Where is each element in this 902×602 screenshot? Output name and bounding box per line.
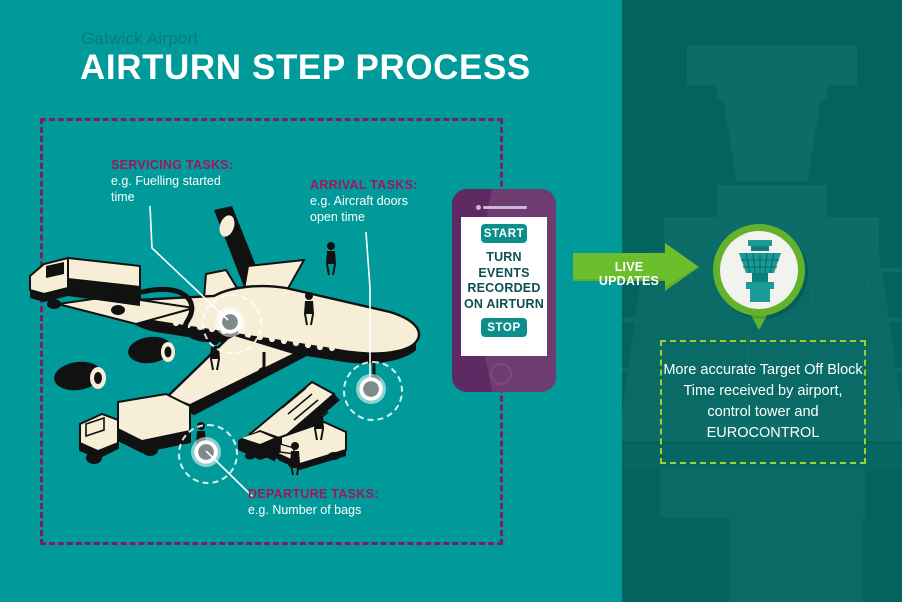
callout-arrival-heading: ARRIVAL TASKS: bbox=[310, 177, 424, 193]
outcome-box: More accurate Target Off Block Time rece… bbox=[660, 340, 866, 464]
ghost-tower-stem bbox=[730, 518, 862, 602]
callout-servicing-body: e.g. Fuelling started time bbox=[111, 173, 231, 205]
callout-departure-heading: DEPARTURE TASKS: bbox=[248, 486, 418, 502]
start-button[interactable]: START bbox=[481, 224, 527, 243]
phone-message: TURN EVENTS RECORDED ON AIRTURN bbox=[461, 250, 547, 312]
outcome-text: More accurate Target Off Block Time rece… bbox=[662, 360, 864, 444]
cargo-truck-icon bbox=[58, 386, 198, 486]
infographic-canvas: Gatwick Airport AIRTURN STEP PROCESS bbox=[0, 0, 902, 602]
phone-screen: START TURN EVENTS RECORDED ON AIRTURN ST… bbox=[461, 217, 547, 356]
phone-mockup: START TURN EVENTS RECORDED ON AIRTURN ST… bbox=[452, 189, 556, 392]
phone-speaker-icon bbox=[483, 206, 527, 209]
arrow-label: LIVE UPDATES bbox=[583, 260, 675, 288]
callout-servicing-heading: SERVICING TASKS: bbox=[111, 157, 233, 173]
control-tower-icon bbox=[731, 240, 789, 302]
callout-departure-body: e.g. Number of bags bbox=[248, 502, 418, 518]
control-tower-pin bbox=[713, 224, 809, 332]
ghost-tower-cone bbox=[717, 62, 827, 182]
marker-arrival[interactable] bbox=[356, 374, 386, 404]
ground-crew-icon bbox=[300, 290, 318, 326]
kicker-text: Gatwick Airport bbox=[81, 29, 198, 49]
ghost-tower-collar bbox=[717, 185, 827, 217]
ground-crew-icon bbox=[310, 405, 328, 441]
live-updates-arrow: LIVE UPDATES bbox=[573, 243, 699, 291]
callout-arrival-body: e.g. Aircraft doors open time bbox=[310, 193, 424, 225]
page-title: AIRTURN STEP PROCESS bbox=[80, 48, 531, 88]
ground-crew-icon bbox=[286, 440, 304, 476]
phone-camera-icon bbox=[476, 205, 481, 210]
marker-departure[interactable] bbox=[191, 437, 221, 467]
callout-arrival: ARRIVAL TASKS: e.g. Aircraft doors open … bbox=[310, 177, 424, 225]
ground-crew-icon bbox=[322, 240, 340, 276]
callout-departure: DEPARTURE TASKS: e.g. Number of bags bbox=[248, 486, 418, 518]
ghost-tower-block1 bbox=[660, 468, 865, 518]
marker-servicing[interactable] bbox=[215, 307, 245, 337]
phone-home-button[interactable] bbox=[490, 363, 512, 385]
stop-button[interactable]: STOP bbox=[481, 318, 527, 337]
callout-servicing: SERVICING TASKS: e.g. Fuelling started t… bbox=[111, 157, 233, 205]
